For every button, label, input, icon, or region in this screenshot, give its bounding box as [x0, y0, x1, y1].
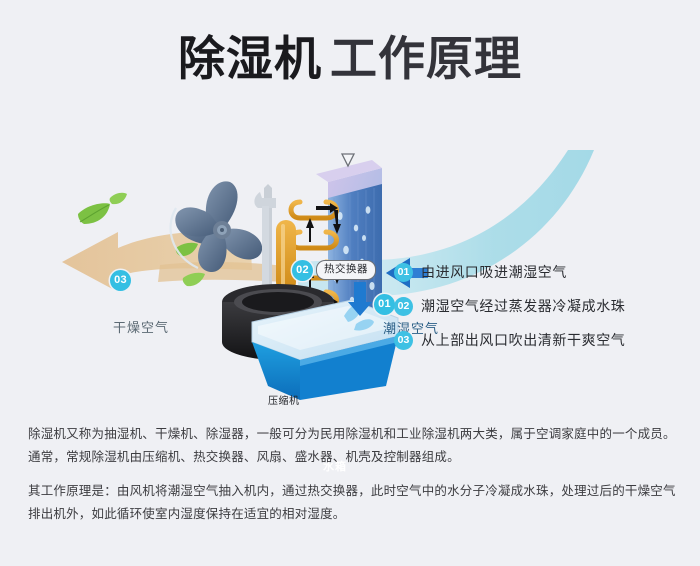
- diagram-badge-01: 01: [374, 294, 395, 315]
- legend-text-01: 由进风口吸进潮湿空气: [421, 262, 567, 282]
- paragraph-2-line-2: 排出机外，如此循环使室内湿度保持在适宜的相对湿度。: [28, 503, 676, 526]
- body-paragraph-1: 除湿机又称为抽湿机、干燥机、除湿器，一般可分为民用除湿机和工业除湿机两大类，属于…: [28, 423, 676, 469]
- legend-text-02: 潮湿空气经过蒸发器冷凝成水珠: [421, 296, 625, 316]
- diagram-badge-02: 02: [292, 260, 313, 281]
- callout-heat-exchanger: 热交换器: [316, 260, 376, 280]
- legend-item-03: 03 从上部出风口吹出清新干爽空气: [394, 323, 694, 357]
- paragraph-1-line-2: 通常，常规除湿机由压缩机、热交换器、风扇、盛水器、机壳及控制器组成。: [28, 446, 676, 469]
- callout-pointer: [342, 154, 354, 166]
- legend-item-01: 01 由进风口吸进潮湿空气: [394, 255, 694, 289]
- legend-badge-01: 01: [394, 263, 413, 282]
- legend-badge-03: 03: [394, 331, 413, 350]
- diagram-badge-03: 03: [110, 270, 131, 291]
- legend-item-02: 02 潮湿空气经过蒸发器冷凝成水珠: [394, 289, 694, 323]
- page-root: 除湿机工作原理: [0, 0, 700, 566]
- accumulator-cylinder: [276, 220, 296, 292]
- page-title-main: 除湿机: [178, 32, 322, 85]
- paragraph-2-line-1: 其工作原理是：由风机将潮湿空气抽入机内，通过热交换器，此时空气中的水分子冷凝成水…: [28, 480, 676, 503]
- paragraph-1-line-1: 除湿机又称为抽湿机、干燥机、除湿器，一般可分为民用除湿机和工业除湿机两大类，属于…: [28, 423, 676, 446]
- legend-text-03: 从上部出风口吹出清新干爽空气: [421, 330, 625, 350]
- page-title-sub: 工作原理: [330, 32, 522, 85]
- fan-icon: [171, 181, 263, 272]
- legend-badge-02: 02: [394, 297, 413, 316]
- body-paragraph-2: 其工作原理是：由风机将潮湿空气抽入机内，通过热交换器，此时空气中的水分子冷凝成水…: [28, 480, 676, 526]
- page-title: 除湿机工作原理: [0, 30, 700, 88]
- legend-steps: 01 由进风口吸进潮湿空气 02 潮湿空气经过蒸发器冷凝成水珠 03 从上部出风…: [394, 255, 694, 357]
